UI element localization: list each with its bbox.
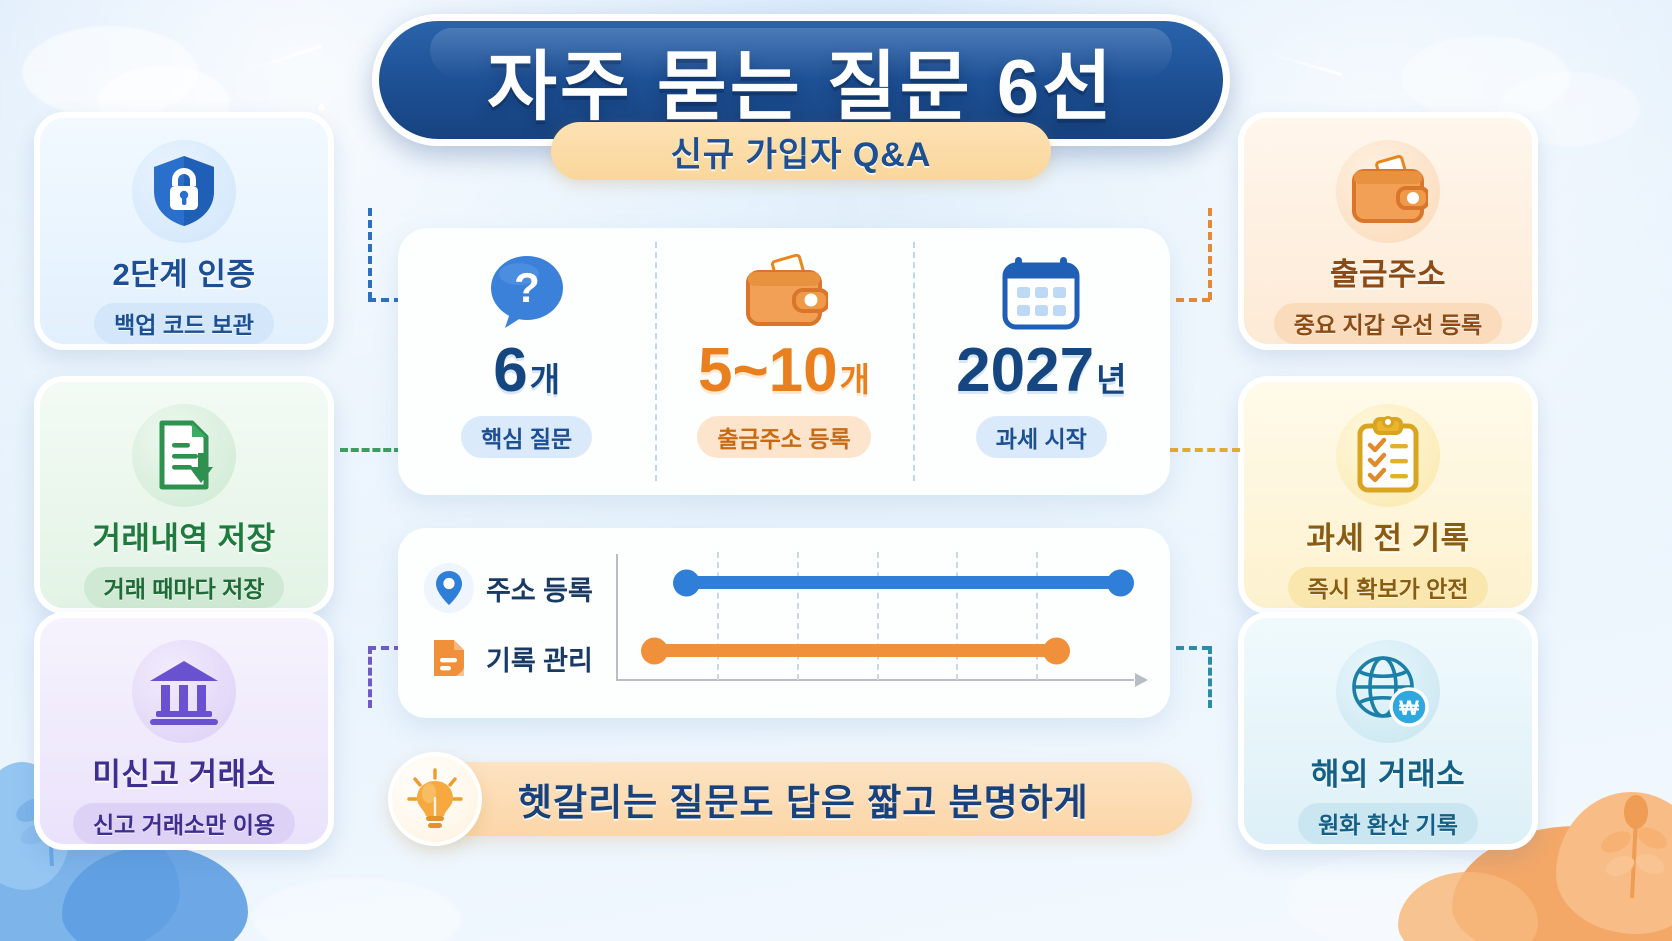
legend-item-record: 기록 관리 (424, 623, 616, 693)
card-title: 거래내역 저장 (92, 513, 275, 558)
card-title: 과세 전 기록 (1306, 513, 1469, 558)
stat-pill: 출금주소 등록 (697, 416, 870, 458)
connector-right-bottom (1170, 590, 1240, 702)
document-download-icon-wrap (132, 404, 236, 507)
sidebar-item-withdraw-address[interactable]: 출금주소 중요 지갑 우선 등록 (1238, 112, 1538, 350)
card-pill: 거래 때마다 저장 (84, 567, 285, 608)
calendar-icon (999, 253, 1083, 333)
stat-value: 6개 (493, 340, 560, 402)
connector-segment (1176, 298, 1210, 302)
stats-panel: ? 6개 핵심 질문 5~10개 출금주소 등록 (398, 228, 1170, 495)
connector-right-top (1170, 208, 1240, 320)
shield-lock-icon-wrap (132, 140, 236, 243)
sidebar-item-two-factor[interactable]: 2단계 인증 백업 코드 보관 (34, 112, 334, 350)
chart-bar-cap-end (1043, 637, 1070, 664)
stat-tax-start-year: 2027년 과세 시작 (913, 228, 1170, 495)
card-pill: 즉시 확보가 안전 (1288, 567, 1489, 608)
svg-text:₩: ₩ (1399, 697, 1419, 720)
wallet-icon (1348, 155, 1428, 227)
connector-segment (1176, 646, 1210, 650)
location-pin-icon-wrap (424, 563, 474, 613)
connector-segment (1208, 646, 1212, 708)
chart-panel: 주소 등록 기록 관리 (398, 528, 1170, 718)
connector-left-mid (340, 448, 402, 458)
clipboard-checklist-icon-wrap (1336, 404, 1440, 507)
stat-number: 6 (493, 340, 527, 402)
legend-label: 주소 등록 (486, 569, 593, 608)
foliage-decor-left (62, 846, 248, 941)
connector-segment (1170, 448, 1240, 452)
chart-gridline (797, 552, 799, 680)
legend-item-address: 주소 등록 (424, 553, 616, 623)
sidebar-item-pretax-record[interactable]: 과세 전 기록 즉시 확보가 안전 (1238, 376, 1538, 614)
sparkle-streak-decor (238, 44, 323, 74)
shield-lock-icon (148, 153, 220, 229)
footer-banner: 헷갈리는 질문도 답은 짧고 분명하게 (402, 762, 1192, 836)
question-bubble-icon: ? (485, 252, 569, 334)
connector-segment (368, 646, 402, 650)
stat-core-questions: ? 6개 핵심 질문 (398, 228, 655, 495)
footer-text: 헷갈리는 질문도 답은 짧고 분명하게 (518, 772, 1089, 826)
wallet-icon-wrap (740, 250, 828, 336)
connector-segment (340, 448, 402, 452)
foliage-decor-right (1398, 872, 1538, 941)
card-pill: 백업 코드 보관 (94, 303, 274, 344)
lightbulb-icon-wrap (388, 752, 482, 846)
stat-pill: 핵심 질문 (461, 416, 592, 458)
location-pin-icon (434, 569, 464, 607)
stat-withdraw-address-count: 5~10개 출금주소 등록 (655, 228, 912, 495)
clipboard-checklist-icon (1353, 416, 1423, 494)
connector-left-bottom (340, 590, 402, 702)
bank-institution-icon-wrap (132, 640, 236, 743)
record-document-icon-wrap (424, 633, 474, 683)
cloud-decor (1402, 36, 1570, 120)
chart-plot (616, 548, 1148, 698)
chart-bar-address (680, 576, 1127, 589)
chart-legend: 주소 등록 기록 관리 (398, 553, 616, 693)
card-title: 2단계 인증 (113, 249, 256, 294)
infographic-canvas: 자주 묻는 질문 6선 신규 가입자 Q&A 2단계 인증 백업 코드 보관 (0, 0, 1672, 941)
subtitle-pill: 신규 가입자 Q&A (551, 122, 1051, 180)
legend-label: 기록 관리 (486, 639, 593, 678)
chart-y-axis (616, 554, 618, 680)
globe-won-icon: ₩ (1347, 653, 1429, 729)
svg-text:?: ? (514, 264, 540, 311)
connector-segment (368, 208, 372, 300)
card-pill: 원화 환산 기록 (1298, 803, 1478, 844)
chart-x-axis-arrow (1135, 673, 1148, 687)
chart-gridline (1036, 552, 1038, 680)
sidebar-item-overseas-exchange[interactable]: ₩ 해외 거래소 원화 환산 기록 (1238, 612, 1538, 850)
chart-bar-cap-end (1107, 569, 1134, 596)
chart-gridline (717, 552, 719, 680)
record-document-icon (432, 638, 466, 678)
globe-won-icon-wrap: ₩ (1336, 640, 1440, 743)
chart-bar-record (648, 644, 1063, 657)
card-title: 해외 거래소 (1311, 749, 1465, 794)
stat-unit: 개 (530, 363, 560, 396)
connector-right-mid (1170, 448, 1240, 458)
bank-institution-icon (146, 657, 222, 725)
sparkle-decor (318, 104, 325, 111)
chart-gridline (877, 552, 879, 680)
card-title: 미신고 거래소 (92, 749, 275, 794)
stat-unit: 개 (840, 363, 870, 396)
wallet-icon-wrap (1336, 140, 1440, 243)
card-pill: 신고 거래소만 이용 (73, 803, 295, 844)
stat-number: 2027 (956, 340, 1094, 402)
chart-gridline (956, 552, 958, 680)
connector-segment (368, 298, 402, 302)
stat-number: 5~10 (698, 340, 838, 402)
connector-left-top (340, 208, 402, 320)
card-title: 출금주소 (1330, 249, 1446, 294)
sidebar-item-save-history[interactable]: 거래내역 저장 거래 때마다 저장 (34, 376, 334, 614)
connector-segment (1208, 208, 1212, 300)
stat-unit: 년 (1096, 363, 1126, 396)
chart-bar-cap-start (641, 637, 668, 664)
calendar-icon-wrap (999, 250, 1083, 336)
document-download-icon (148, 417, 220, 493)
stat-pill: 과세 시작 (976, 416, 1107, 458)
card-pill: 중요 지갑 우선 등록 (1274, 303, 1502, 344)
header: 자주 묻는 질문 6선 신규 가입자 Q&A (372, 14, 1230, 180)
foliage-sprig-right (1590, 782, 1672, 900)
page-subtitle: 신규 가입자 Q&A (671, 127, 932, 176)
wallet-icon (740, 254, 828, 332)
question-bubble-icon-wrap: ? (485, 250, 569, 336)
sparkle-streak-decor (1263, 51, 1343, 76)
sidebar-item-unreported-exchange[interactable]: 미신고 거래소 신고 거래소만 이용 (34, 612, 334, 850)
foliage-decor-right (1556, 792, 1672, 934)
stat-value: 5~10개 (698, 340, 870, 402)
cloud-decor (22, 26, 198, 118)
chart-x-axis (616, 679, 1134, 681)
chart-bar-cap-start (673, 569, 700, 596)
cloud-decor (252, 878, 462, 941)
connector-segment (368, 646, 372, 708)
cloud-decor (1286, 852, 1516, 941)
lightbulb-icon (406, 767, 464, 831)
plate-gloss (430, 28, 1173, 78)
stat-value: 2027년 (956, 340, 1126, 402)
